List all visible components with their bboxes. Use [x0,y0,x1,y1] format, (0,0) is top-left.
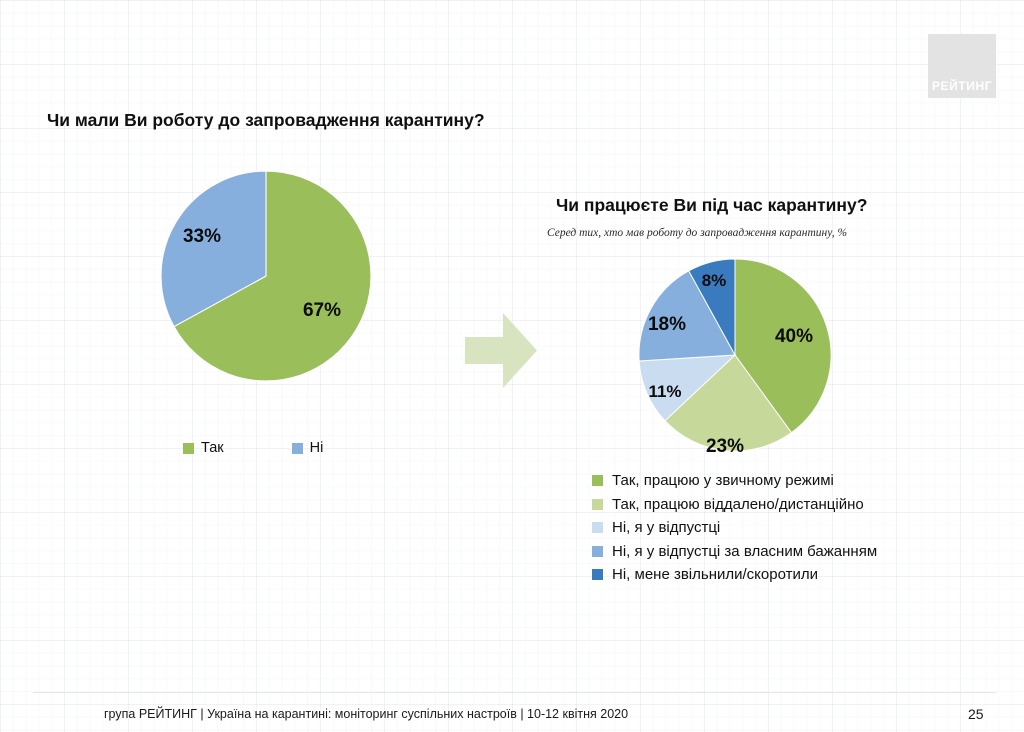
legend-item-on-leave[interactable]: Ні, я у відпустці [592,519,877,536]
legend-swatch-icon [592,499,603,510]
pie-slice-label-8: 8% [702,271,727,291]
legend-item-dismissed[interactable]: Ні, мене звільнили/скоротили [592,566,877,583]
legend-item-label: Ні, я у відпустці [612,519,720,536]
page-number: 25 [968,706,984,722]
legend-item-label: Ні [310,440,324,456]
pie-chart-had-work-svg [160,170,372,382]
pie-chart-working-during [638,258,832,452]
legend-item-label: Так, працюю у звичному режимі [612,472,834,489]
footer-source-text: група РЕЙТИНГ | Україна на карантині: мо… [104,707,628,721]
pie-slice-label-18: 18% [648,314,686,336]
right-chart-legend: Так, працюю у звичному режимі Так, працю… [592,472,877,583]
pie-chart-working-during-svg [638,258,832,452]
pie-slice-label-23: 23% [706,436,744,458]
legend-swatch-icon [292,443,303,454]
right-arrow-shape [465,313,537,388]
legend-item-remote[interactable]: Так, працюю віддалено/дистанційно [592,496,877,513]
pie-slice-label-67: 67% [303,300,341,322]
pie-chart-had-work [160,170,372,382]
logo-text: РЕЙТИНГ [932,79,992,98]
legend-item-usual-mode[interactable]: Так, працюю у звичному режимі [592,472,877,489]
pie-slice-label-11: 11% [648,382,681,402]
legend-swatch-icon [592,546,603,557]
left-chart-title: Чи мали Ви роботу до запровадження каран… [47,110,485,131]
legend-item-label: Ні, я у відпустці за власним бажанням [612,543,877,560]
right-arrow-icon [465,313,537,388]
pie-slice-label-40: 40% [775,326,813,348]
slide-canvas: РЕЙТИНГ Чи мали Ви роботу до запроваджен… [0,0,1024,732]
pie-slice-label-33: 33% [183,226,221,248]
right-chart-subtitle: Серед тих, хто мав роботу до запроваджен… [547,227,847,239]
legend-item-ni[interactable]: Ні [292,440,324,456]
right-chart-title: Чи працюєте Ви під час карантину? [556,195,867,216]
legend-swatch-icon [592,569,603,580]
legend-item-on-leave-voluntary[interactable]: Ні, я у відпустці за власним бажанням [592,543,877,560]
legend-item-label: Так, працюю віддалено/дистанційно [612,496,864,513]
legend-item-label: Ні, мене звільнили/скоротили [612,566,818,583]
legend-item-label: Так [201,440,224,456]
left-chart-legend: Так Ні [183,440,373,456]
legend-swatch-icon [592,522,603,533]
legend-item-tak[interactable]: Так [183,440,224,456]
rating-logo: РЕЙТИНГ [928,34,996,98]
legend-swatch-icon [183,443,194,454]
legend-swatch-icon [592,475,603,486]
